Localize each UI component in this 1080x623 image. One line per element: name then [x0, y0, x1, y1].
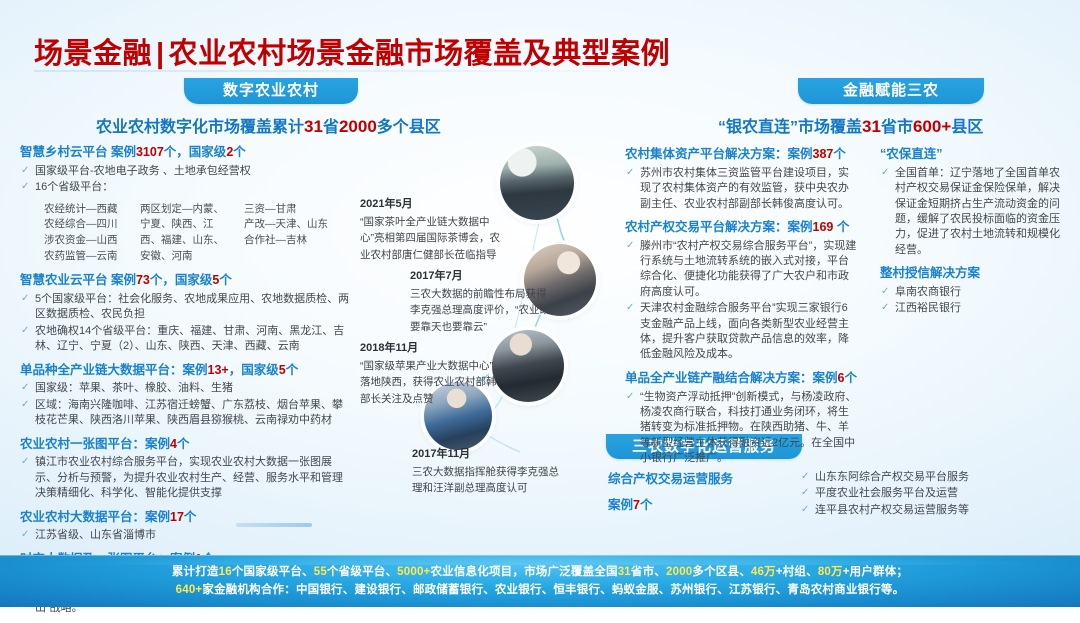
left-block-province-cell-9: 农药监管—云南 [44, 249, 140, 265]
left-block-item-2-1: 区域：海南兴隆咖啡、江苏宿迁螃蟹、广东荔枝、烟台苹果、攀枝花芒果、陕西洛川苹果、… [20, 398, 350, 429]
summary-banner-line-2: 640+家金融机构合作：中国银行、建设银行、邮政储蓄银行、农业银行、恒丰银行、蚂… [0, 582, 1080, 600]
headline-left-num1: 31 [304, 117, 323, 136]
left-block-province-cell-7: 西、福建、山东、 [140, 233, 244, 249]
right-b-block-item-1-1: 江西裕民银行 [880, 301, 1068, 316]
banner-run-8: 省市、 [631, 566, 666, 578]
right-a-block-item-1-0: 滕州市“农村产权交易综合服务平台”，实现建行系统与土地流转系统的嵌入式对接，平台… [625, 239, 857, 301]
left-block-province-grid-0: 农经统计—西藏两区划定—内蒙、三资—甘肃农经综合—四川宁夏、陕西、江产改—天津、… [44, 202, 350, 266]
headline-left-pre: 农业农村数字化市场覆盖累计 [96, 119, 304, 136]
ops-service-item-0: 山东东阿综合产权交易平台服务 [800, 470, 1070, 485]
left-block-list-1: 5个国家级平台：社会化服务、农地成果应用、农地数据质检、两区数据质检、农民负担农… [20, 292, 350, 355]
banner-run-9: 2000 [666, 566, 692, 578]
ops-service-count: 案例7个 [608, 494, 748, 513]
page-title-separator: | [152, 38, 169, 70]
right-a-block-item-1-1: 天津农村金融综合服务平台”实现三家银行6支金融产品上线，面向各类新型农业经营主体… [625, 301, 857, 363]
banner-run-12: +村组、 [776, 566, 818, 578]
right-b-block-heading-0: “农保直连” [880, 146, 1068, 164]
left-block-province-cell-8: 合作社—吉林 [244, 233, 350, 249]
banner-run-10: 多个区县、 [692, 566, 751, 578]
left-block-item-1-0: 5个国家级平台：社会化服务、农地成果应用、农地数据质检、两区数据质检、农民负担 [20, 292, 350, 323]
section-pill-finance-empowerment: 金融赋能三农 [798, 78, 984, 104]
right-column-b: “农保直连”全国首单：辽宁落地了全国首单农村产权交易保证金保险保单，解决保证金短… [880, 146, 1068, 323]
headline-right-num2: 600+ [913, 117, 951, 136]
timeline-text-2: 三农大数据的前瞻性布局获得李克强总理高度评价，“农业既要靠天也要靠云” [410, 286, 552, 335]
headline-right-num1: 31 [862, 117, 881, 136]
timeline-item-4: 2017年11月 三农大数据指挥舱获得李克强总理和汪洋副总理高度认可 [412, 446, 562, 497]
banner-run-3: 55 [314, 566, 327, 578]
left-block-heading-0: 智慧乡村云平台 案例3107个，国家级2个 [20, 144, 350, 162]
left-block-province-cell-4: 宁夏、陕西、江 [140, 217, 244, 233]
right-b-block-list-1: 阜南农商银行江西裕民银行 [880, 285, 1068, 317]
left-block-item-0-0: 国家级平台-农地电子政务 、土地承包经营权 [20, 164, 350, 179]
banner-run-0: 累计打造 [172, 566, 219, 578]
left-block-province-cell-2: 三资—甘肃 [244, 202, 350, 218]
banner-run-13: 80万 [818, 566, 843, 578]
left-block-list-0: 国家级平台-农地电子政务 、土地承包经营权16个省级平台： [20, 164, 350, 196]
summary-banner: 累计打造16个国家级平台、55个省级平台、5000+农业信息化项目，市场广泛覆盖… [0, 555, 1080, 607]
slide-canvas: 场景金融|农业农村场景金融市场覆盖及典型案例 数字农业农村 金融赋能三农 三农数… [0, 0, 1080, 607]
banner-run-1: 16 [219, 566, 232, 578]
headline-right: “银农直连”市场覆盖31省市600+县区 [718, 113, 983, 137]
ops-service-label: 综合产权交易运营服务 案例7个 [608, 468, 748, 515]
right-a-block-list-2: “生物资产浮动抵押”创新模式，与杨凌政府、杨凌农商行联合，科技打通业务闭环，将生… [625, 390, 857, 467]
left-block-province-cell-1: 两区划定—内蒙、 [140, 202, 244, 218]
left-block-heading-2: 单品种全产业链大数据平台：案例13+，国家级5个 [20, 362, 350, 380]
section-pill-digital-agriculture: 数字农业农村 [184, 78, 358, 104]
title-underline [34, 70, 694, 72]
ops-service-list: 山东东阿综合产权交易平台服务平度农业社会服务平台及运营连平县农村产权交易运营服务… [800, 470, 1070, 519]
left-block-province-cell-5: 产改—天津、山东 [244, 217, 350, 233]
headline-right-pre: “银农直连”市场覆盖 [718, 119, 862, 136]
timeline-date-3: 2018年11月 [360, 340, 500, 357]
left-block-province-cell-6: 涉农资金—山西 [44, 233, 140, 249]
right-a-block-list-1: 滕州市“农村产权交易综合服务平台”，实现建行系统与土地流转系统的嵌入式对接，平台… [625, 239, 857, 363]
headline-left-num2: 2000 [339, 117, 377, 136]
right-b-block-list-0: 全国首单：辽宁落地了全国首单农村产权交易保证金保险保单，解决保证金短期挤占生产流… [880, 166, 1068, 258]
right-a-block-list-0: 苏州市农村集体三资监管平台建设项目，实现了农村集体资产的有效监管，获中央农办副主… [625, 166, 857, 212]
banner-run-4: 个省级平台、 [327, 566, 397, 578]
left-block-province-cell-3: 农经综合—四川 [44, 217, 140, 233]
headline-left-mid: 省 [323, 119, 339, 136]
right-a-block-heading-0: 农村集体资产平台解决方案：案例387个 [625, 146, 857, 164]
page-title-main: 场景金融 [34, 38, 152, 70]
right-a-block-item-2-0: “生物资产浮动抵押”创新模式，与杨凌政府、杨凌农商行联合，科技打通业务闭环，将生… [625, 390, 857, 467]
banner-run-6: 农业信息化项目，市场广泛覆盖全国 [430, 566, 617, 578]
left-block-item-1-1: 农地确权14个省级平台：重庆、福建、甘肃、河南、黑龙江、吉林、辽宁、宁夏（2）、… [20, 324, 350, 355]
banner-run-11: 46万 [751, 566, 776, 578]
left-block-item-3-0: 镇江市农业农村综合服务平台，实现农业农村大数据一张图展示、分析与预警，为提升农业… [20, 455, 350, 501]
timeline-text-1: “国家茶叶全产业链大数据中心”亮相第四届国际茶博会，农业农村部唐仁健部长莅临指导 [360, 214, 500, 263]
decorative-line [236, 523, 312, 527]
timeline-item-1: 2021年5月 “国家茶叶全产业链大数据中心”亮相第四届国际茶博会，农业农村部唐… [360, 196, 500, 263]
left-block-list-4: 江苏省级、山东省淄博市 [20, 528, 350, 543]
page-title: 场景金融|农业农村场景金融市场覆盖及典型案例 [34, 30, 670, 72]
timeline-date-1: 2021年5月 [360, 196, 500, 213]
timeline-text-3: “国家级苹果产业大数据中心”落地陕西，获得农业农村部韩部长关注及点赞 [360, 358, 500, 407]
ops-service-title: 综合产权交易运营服务 [608, 468, 748, 492]
left-block-heading-3: 农业农村一张图平台：案例4个 [20, 436, 350, 454]
banner-run-1: 家金融机构合作：中国银行、建设银行、邮政储蓄银行、农业银行、恒丰银行、蚂蚁金服、… [202, 584, 904, 596]
banner-run-14: +用户群体； [843, 566, 908, 578]
timeline-text-4: 三农大数据指挥舱获得李克强总理和汪洋副总理高度认可 [412, 464, 562, 497]
right-column-a: 农村集体资产平台解决方案：案例387个苏州市农村集体三资监管平台建设项目，实现了… [625, 146, 857, 473]
right-b-block-item-0-0: 全国首单：辽宁落地了全国首单农村产权交易保证金保险保单，解决保证金短期挤占生产流… [880, 166, 1068, 258]
ops-service-item-1: 平度农业社会服务平台及运营 [800, 486, 1070, 501]
page-title-sub: 农业农村场景金融市场覆盖及典型案例 [169, 38, 671, 70]
right-a-block-heading-1: 农村产权交易平台解决方案：案例169 个 [625, 219, 857, 237]
headline-left-post: 多个县区 [377, 119, 441, 136]
right-b-block-item-1-0: 阜南农商银行 [880, 285, 1068, 300]
banner-run-5: 5000+ [397, 566, 430, 578]
timeline-item-2: 2017年7月 三农大数据的前瞻性布局获得李克强总理高度评价，“农业既要靠天也要… [410, 268, 552, 335]
timeline-date-4: 2017年11月 [412, 446, 562, 463]
right-a-block-heading-2: 单品全产业链产融结合解决方案：案例6个 [625, 370, 857, 388]
left-block-province-cell-11 [244, 249, 350, 265]
banner-run-0: 640+ [176, 584, 203, 596]
headline-right-mid: 省市 [881, 119, 913, 136]
left-block-list-3: 镇江市农业农村综合服务平台，实现农业农村大数据一张图展示、分析与预警，为提升农业… [20, 455, 350, 501]
left-block-item-4-0: 江苏省级、山东省淄博市 [20, 528, 350, 543]
timeline-date-2: 2017年7月 [410, 268, 552, 285]
left-block-item-0-1: 16个省级平台： [20, 180, 350, 195]
left-block-province-cell-10: 安徽、河南 [140, 249, 244, 265]
photo-apple-center [492, 330, 564, 402]
right-a-block-item-0-0: 苏州市农村集体三资监管平台建设项目，实现了农村集体资产的有效监管，获中央农办副主… [625, 166, 857, 212]
right-b-block-heading-1: 整村授信解决方案 [880, 265, 1068, 283]
headline-right-post: 县区 [951, 119, 983, 136]
ops-service-item-2: 连平县农村产权交易运营服务等 [800, 503, 1070, 518]
headline-left: 农业农村数字化市场覆盖累计31省2000多个县区 [96, 113, 441, 137]
photo-tea-expo [500, 146, 574, 220]
left-block-item-2-0: 国家级：苹果、茶叶、橡胶、油料、生猪 [20, 381, 350, 396]
left-block-heading-1: 智慧农业云平台 案例73个，国家级5个 [20, 272, 350, 290]
left-block-list-2: 国家级：苹果、茶叶、橡胶、油料、生猪区域：海南兴隆咖啡、江苏宿迁螃蟹、广东荔枝、… [20, 381, 350, 428]
banner-run-7: 31 [618, 566, 631, 578]
banner-run-2: 个国家级平台、 [232, 566, 314, 578]
summary-banner-line-1: 累计打造16个国家级平台、55个省级平台、5000+农业信息化项目，市场广泛覆盖… [0, 555, 1080, 582]
timeline-item-3: 2018年11月 “国家级苹果产业大数据中心”落地陕西，获得农业农村部韩部长关注… [360, 340, 500, 407]
left-block-province-cell-0: 农经统计—西藏 [44, 202, 140, 218]
